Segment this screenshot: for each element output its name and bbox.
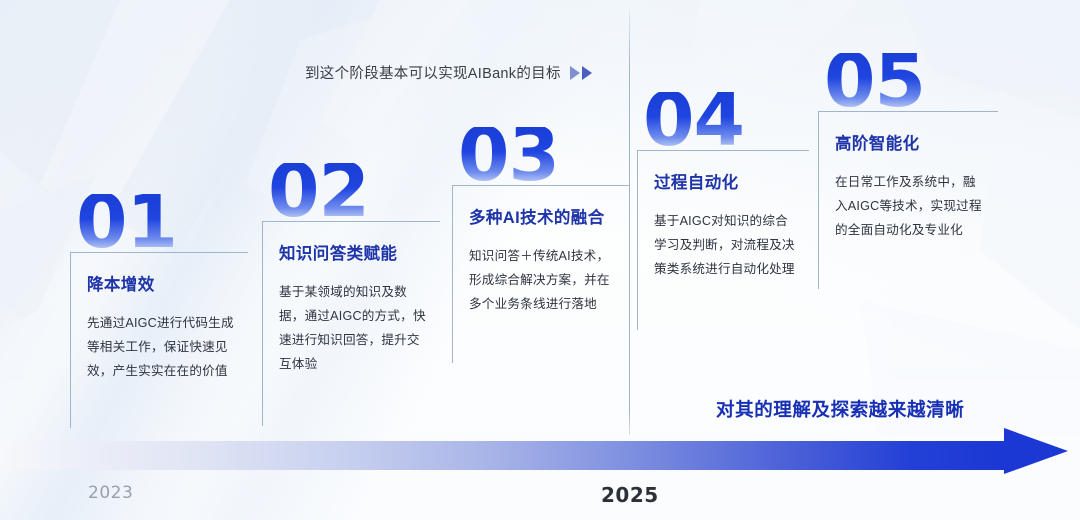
- annotation: 到这个阶段基本可以实现AIBank的目标: [305, 62, 592, 83]
- stage-number: 04: [643, 92, 809, 150]
- stage-card: 高阶智能化 在日常工作及系统中，融入AIGC等技术，实现过程的全面自动化及专业化: [818, 111, 998, 289]
- stage-number: 03: [458, 127, 630, 185]
- double-chevron-right-icon: [570, 66, 592, 80]
- timeline-bar: [0, 441, 1012, 470]
- stage-card: 过程自动化 基于AIGC对知识的综合学习及判断，对流程及决策类系统进行自动化处理: [637, 150, 809, 330]
- annotation-text: 到这个阶段基本可以实现AIBank的目标: [305, 62, 561, 83]
- stage-body: 在日常工作及系统中，融入AIGC等技术，实现过程的全面自动化及专业化: [835, 170, 984, 243]
- timeline-arrow: [0, 437, 1080, 483]
- stage-05[interactable]: 05 高阶智能化 在日常工作及系统中，融入AIGC等技术，实现过程的全面自动化及…: [818, 53, 998, 289]
- stage-title: 多种AI技术的融合: [469, 204, 616, 228]
- stage-title: 降本增效: [87, 271, 234, 295]
- stage-body: 先通过AIGC进行代码生成等相关工作，保证快速见效，产生实实在在的价值: [87, 311, 234, 384]
- year-label-start: 2023: [88, 483, 133, 503]
- stage-04[interactable]: 04 过程自动化 基于AIGC对知识的综合学习及判断，对流程及决策类系统进行自动…: [637, 92, 809, 330]
- stage-card: 多种AI技术的融合 知识问答＋传统AI技术，形成综合解决方案，并在多个业务条线进…: [452, 185, 630, 363]
- stage-number: 02: [268, 163, 440, 221]
- stage-03[interactable]: 03 多种AI技术的融合 知识问答＋传统AI技术，形成综合解决方案，并在多个业务…: [452, 127, 630, 363]
- right-arrow-icon: [1004, 428, 1068, 474]
- roadmap-slide: 到这个阶段基本可以实现AIBank的目标 01 降本增效 先通过AIGC进行代码…: [0, 0, 1080, 520]
- banner-text: 对其的理解及探索越来越清晰: [716, 396, 964, 422]
- stage-title: 过程自动化: [654, 169, 795, 193]
- stage-body: 基于AIGC对知识的综合学习及判断，对流程及决策类系统进行自动化处理: [654, 209, 795, 282]
- stage-number: 01: [76, 194, 248, 252]
- stage-title: 知识问答类赋能: [279, 240, 426, 264]
- stage-title: 高阶智能化: [835, 130, 984, 154]
- stage-body: 知识问答＋传统AI技术，形成综合解决方案，并在多个业务条线进行落地: [469, 244, 616, 317]
- stage-number: 05: [824, 53, 998, 111]
- stage-01[interactable]: 01 降本增效 先通过AIGC进行代码生成等相关工作，保证快速见效，产生实实在在…: [70, 194, 248, 428]
- stage-card: 降本增效 先通过AIGC进行代码生成等相关工作，保证快速见效，产生实实在在的价值: [70, 252, 248, 428]
- stage-body: 基于某领域的知识及数据，通过AIGC的方式，快速进行知识回答，提升交互体验: [279, 280, 426, 377]
- stage-02[interactable]: 02 知识问答类赋能 基于某领域的知识及数据，通过AIGC的方式，快速进行知识回…: [262, 163, 440, 426]
- stage-card: 知识问答类赋能 基于某领域的知识及数据，通过AIGC的方式，快速进行知识回答，提…: [262, 221, 440, 426]
- year-label-end: 2025: [601, 483, 659, 507]
